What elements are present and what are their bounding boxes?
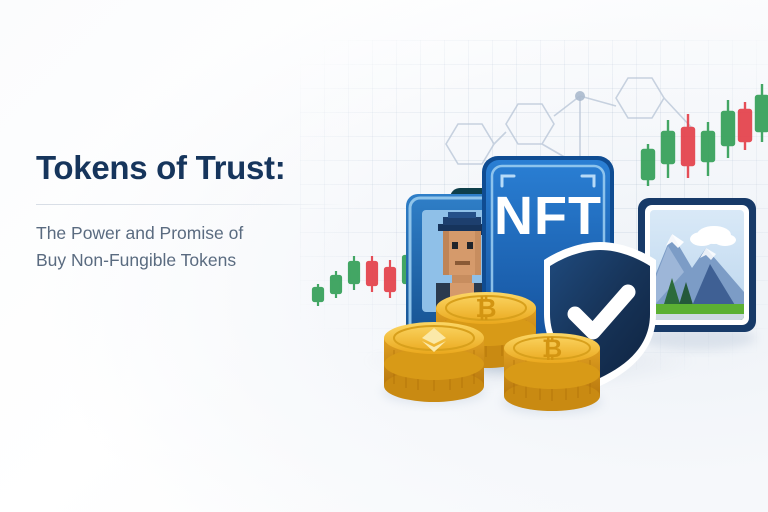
nft-hero-banner: NFT ₿ — [0, 0, 768, 512]
nft-card-label: NFT — [494, 186, 602, 246]
nft-illustration: NFT ₿ — [300, 20, 768, 420]
title-divider — [36, 204, 346, 205]
page-subtitle: The Power and Promise of Buy Non-Fungibl… — [36, 220, 366, 274]
bitcoin-coin-stack-right: ₿ — [502, 333, 602, 414]
bitcoin-symbol: ₿ — [542, 335, 562, 363]
ethereum-coin-stack-left — [382, 322, 486, 404]
page-title: Tokens of Trust: — [36, 150, 366, 187]
subtitle-line-1: The Power and Promise of — [36, 223, 243, 243]
headline-block: Tokens of Trust: The Power and Promise o… — [36, 150, 366, 274]
bitcoin-symbol: ₿ — [475, 293, 496, 323]
subtitle-line-2: Buy Non-Fungible Tokens — [36, 250, 236, 270]
